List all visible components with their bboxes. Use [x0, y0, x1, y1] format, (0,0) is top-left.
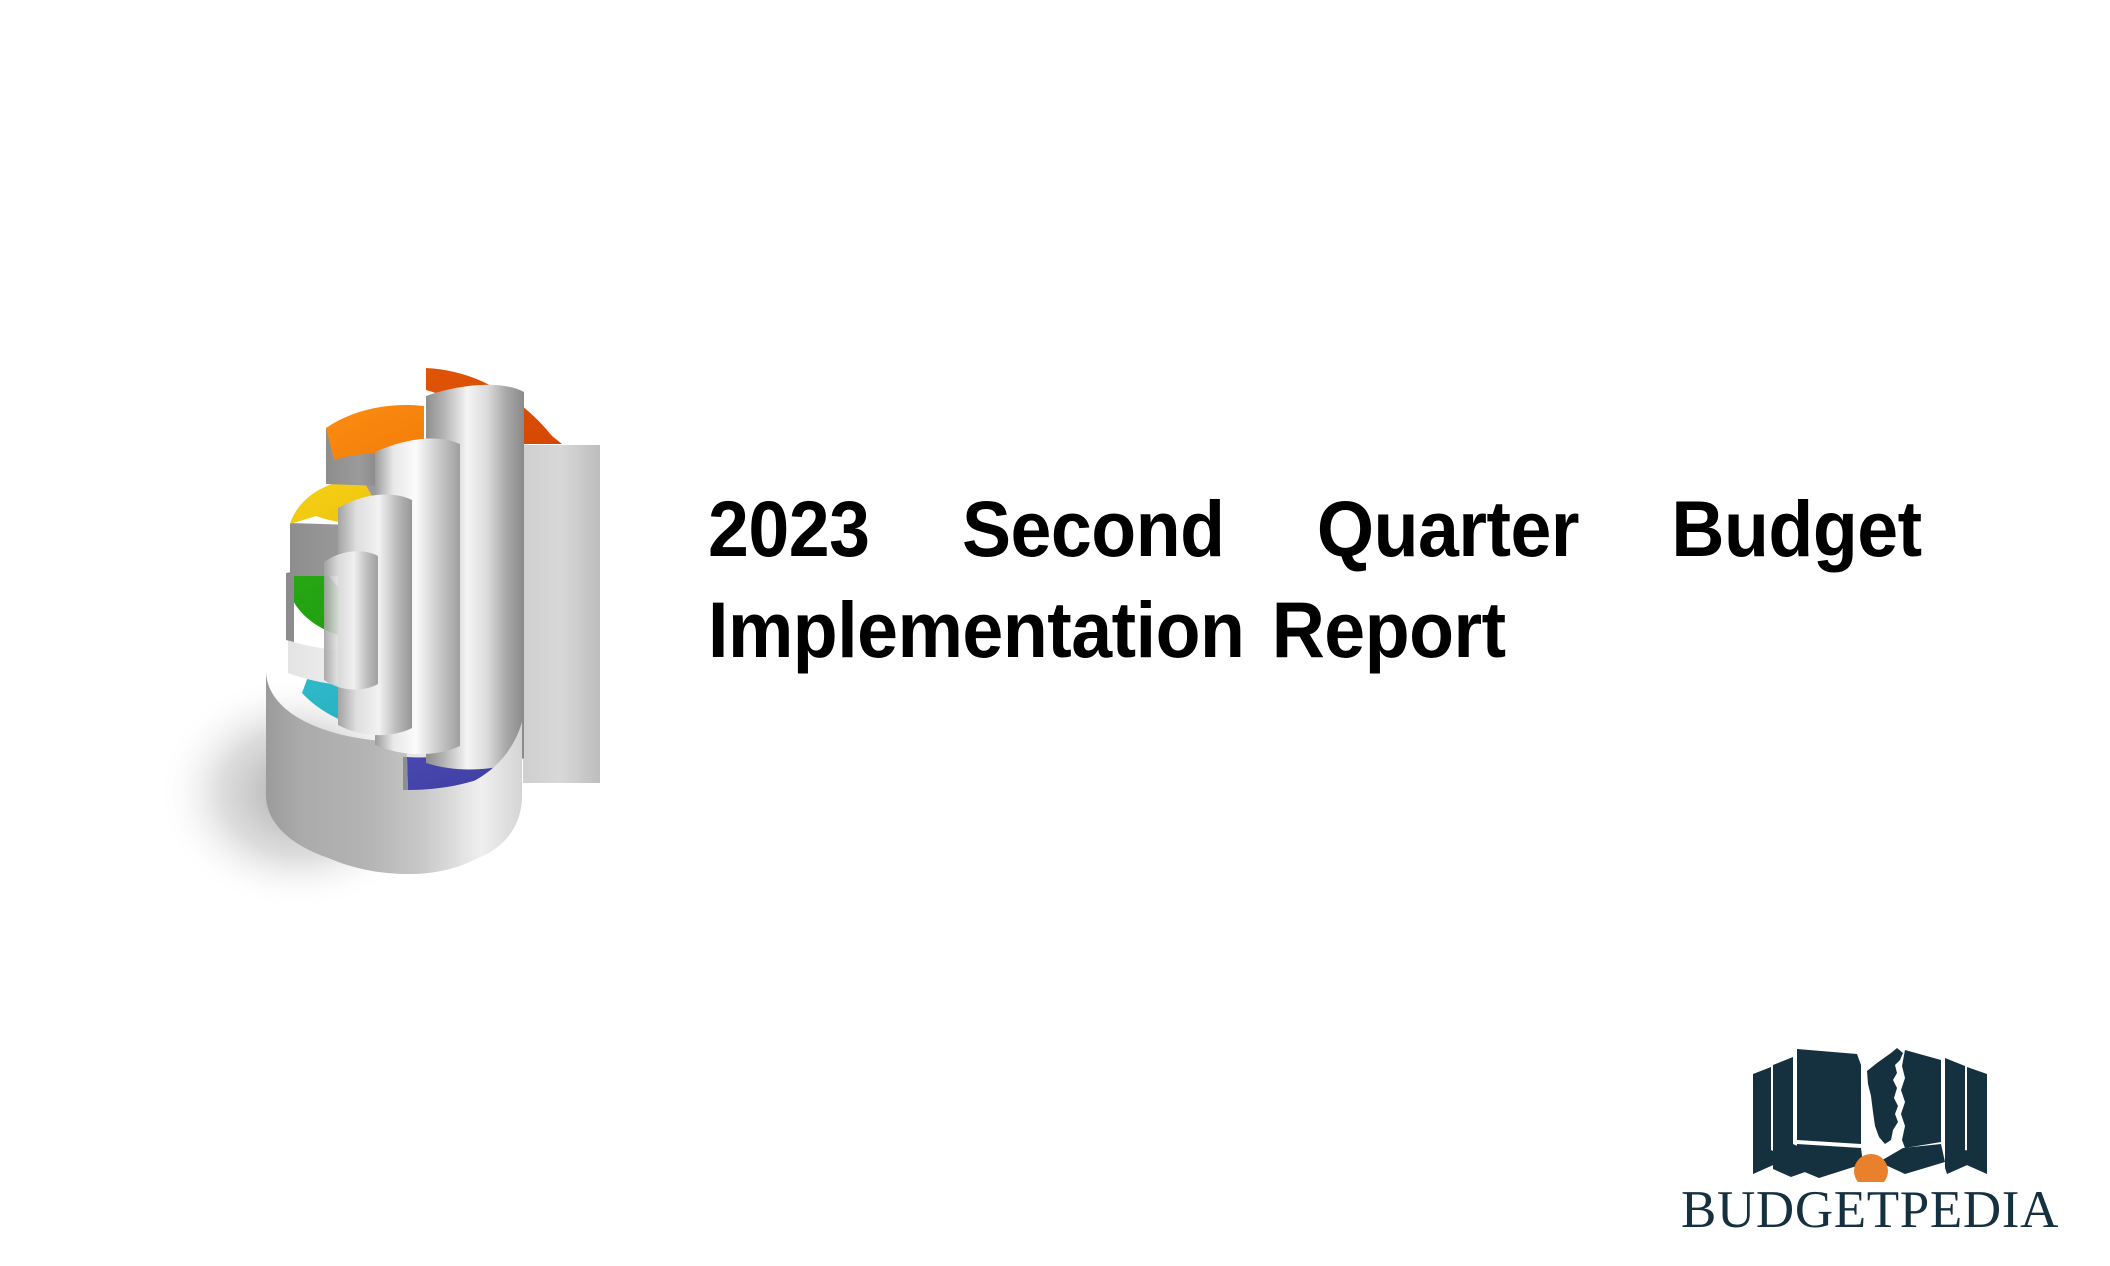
step-green-riser	[286, 573, 294, 642]
page-title: 2023 Second Quarter Budget Implementatio…	[708, 478, 1922, 680]
title-block: 2023 Second Quarter Budget Implementatio…	[708, 478, 2013, 680]
report-cover-slide: 2023 Second Quarter Budget Implementatio…	[0, 0, 2110, 1266]
cylinder-inner-small	[324, 551, 378, 689]
budgetpedia-wordmark: BUDGETPEDIA	[1681, 1184, 2059, 1237]
back-slab	[523, 445, 600, 783]
open-book-icon	[1745, 1040, 1995, 1182]
budgetpedia-logo[interactable]: BUDGETPEDIA	[1700, 1040, 2040, 1245]
spiral-staircase-chart	[120, 340, 640, 920]
spiral-staircase-svg	[120, 340, 640, 920]
